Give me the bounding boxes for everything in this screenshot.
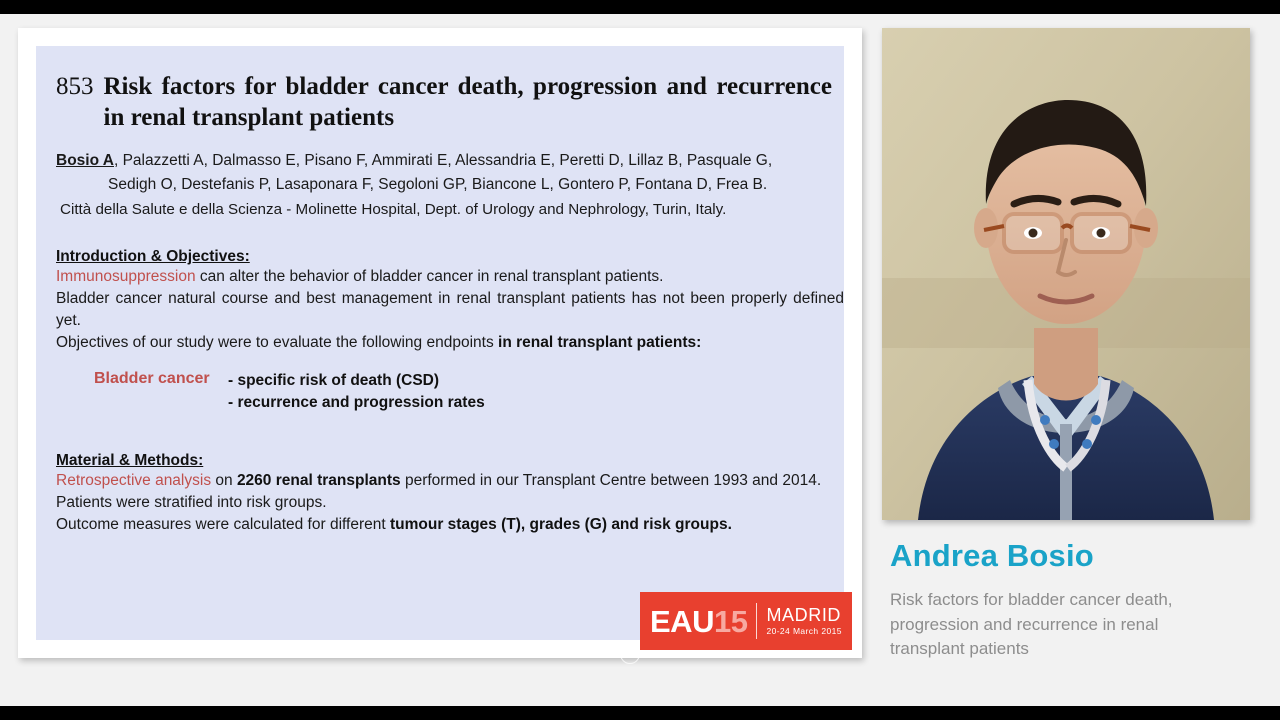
author-list: Bosio A, Palazzetti A, Dalmasso E, Pisan… [56, 149, 832, 173]
endpoint-item-2: - recurrence and progression rates [228, 392, 485, 414]
eau-logo-city: MADRID [766, 606, 841, 625]
letterbox-top [0, 0, 1280, 14]
bladder-cancer-label: Bladder cancer [56, 370, 228, 388]
speaker-photo [882, 28, 1250, 520]
speaker-portrait-image [882, 28, 1250, 520]
eau-logo-divider [756, 603, 757, 639]
eau-logo-dates: 20-24 March 2015 [766, 626, 841, 636]
eau-logo-wordmark: EAU15 [650, 606, 747, 637]
introduction-line-2: Bladder cancer natural course and best m… [56, 288, 844, 332]
eau-logo-year: 15 [714, 604, 747, 639]
slide-title-row: 853 Risk factors for bladder cancer deat… [56, 72, 832, 133]
methods-line-1: Retrospective analysis on 2260 renal tra… [56, 470, 844, 492]
transplant-count: 2260 renal transplants [237, 472, 401, 489]
eau-logo-eau: EAU [650, 604, 714, 639]
introduction-heading-text: Introduction & Objectives: [56, 248, 250, 265]
bladder-cancer-endpoints: Bladder cancer - specific risk of death … [56, 370, 832, 414]
eau-congress-logo: EAU15 MADRID 20-24 March 2015 [640, 592, 852, 650]
affiliation: Città della Salute e della Scienza - Mol… [56, 201, 832, 218]
abstract-number: 853 [56, 72, 104, 103]
speaker-name: Andrea Bosio [890, 538, 1094, 574]
introduction-line-3-bold: in renal transplant patients: [498, 334, 701, 351]
methods-line-2: Patients were stratified into risk group… [56, 492, 844, 514]
introduction-line-1-rest: can alter the behavior of bladder cancer… [196, 268, 664, 285]
methods-heading: Material & Methods: [56, 452, 832, 470]
letterbox-bottom [0, 706, 1280, 720]
introduction-line-3-plain: Objectives of our study were to evaluate… [56, 334, 498, 351]
methods-section: Material & Methods: Retrospective analys… [56, 452, 832, 536]
eau-logo-details: MADRID 20-24 March 2015 [766, 606, 841, 637]
methods-line-1-mid: on [211, 472, 237, 489]
slide-surface: 853 Risk factors for bladder cancer deat… [36, 46, 844, 640]
video-player-stage: 853 Risk factors for bladder cancer deat… [0, 0, 1280, 720]
introduction-section: Introduction & Objectives: Immunosuppres… [56, 248, 832, 414]
endpoint-list: - specific risk of death (CSD) - recurre… [228, 370, 485, 414]
methods-line-3-plain: Outcome measures were calculated for dif… [56, 516, 390, 533]
introduction-heading: Introduction & Objectives: [56, 248, 832, 266]
author-list-line2: Sedigh O, Destefanis P, Lasaponara F, Se… [56, 173, 832, 197]
methods-line-3-bold: tumour stages (T), grades (G) and risk g… [390, 516, 732, 533]
endpoint-item-1: - specific risk of death (CSD) [228, 370, 485, 392]
co-authors: , Palazzetti A, Dalmasso E, Pisano F, Am… [114, 152, 772, 169]
introduction-line-1: Immunosuppression can alter the behavior… [56, 266, 844, 288]
slide-panel: 853 Risk factors for bladder cancer deat… [18, 28, 862, 658]
speaker-description: Risk factors for bladder cancer death, p… [890, 588, 1220, 662]
page-title: Risk factors for bladder cancer death, p… [104, 72, 833, 133]
introduction-line-3: Objectives of our study were to evaluate… [56, 332, 844, 354]
immunosuppression-term: Immunosuppression [56, 268, 196, 285]
copyright-watermark: © [620, 644, 640, 664]
methods-line-3: Outcome measures were calculated for dif… [56, 514, 844, 536]
methods-line-1-rest: performed in our Transplant Centre betwe… [401, 472, 822, 489]
methods-heading-text: Material & Methods: [56, 452, 203, 469]
retrospective-analysis-term: Retrospective analysis [56, 472, 211, 489]
lead-author: Bosio A [56, 152, 114, 169]
slide-content: 853 Risk factors for bladder cancer deat… [56, 72, 832, 536]
